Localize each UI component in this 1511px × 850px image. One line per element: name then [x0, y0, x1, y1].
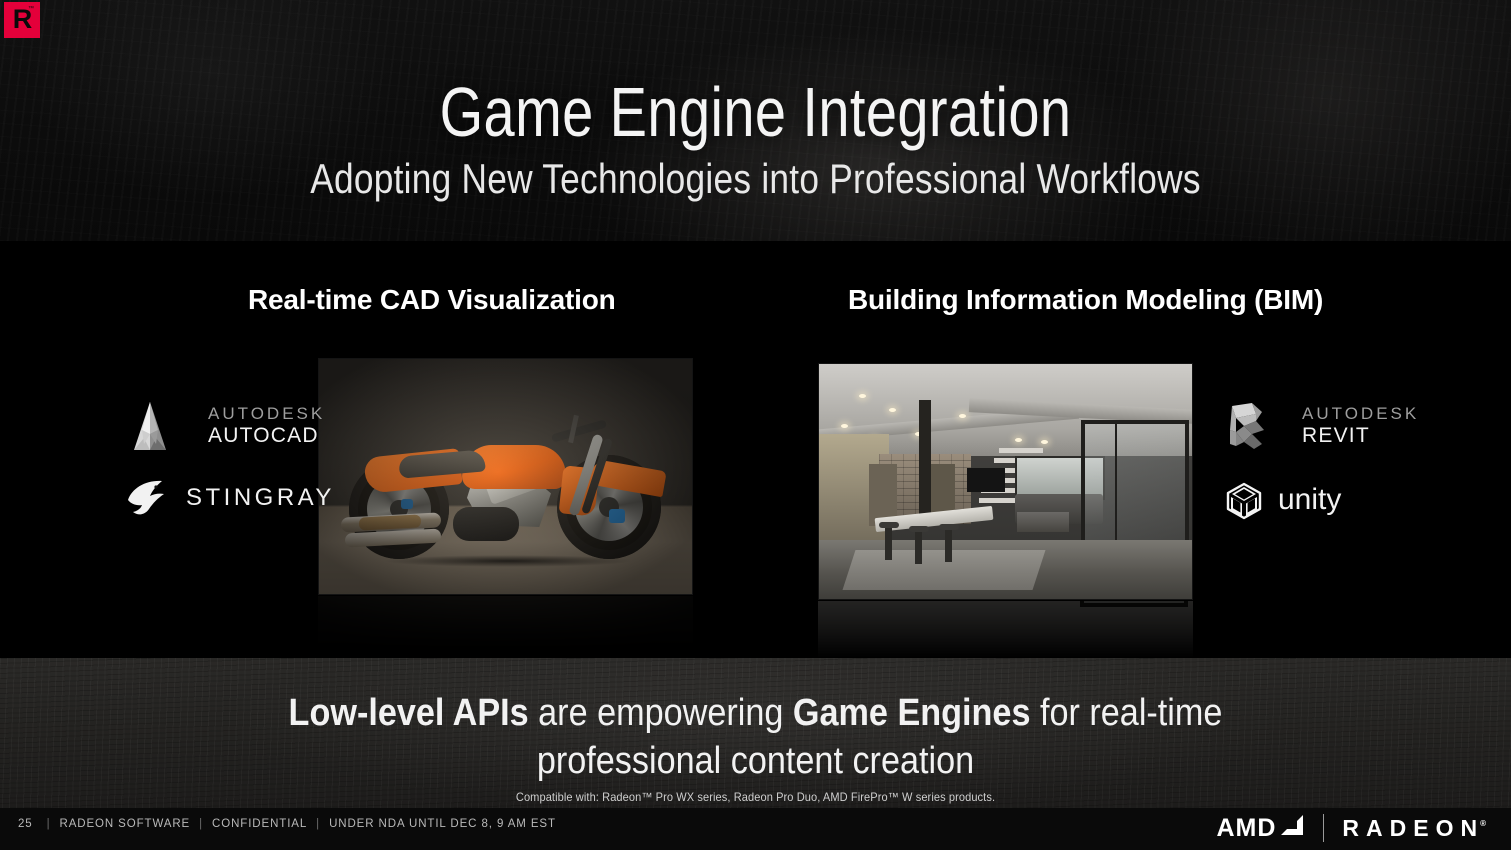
autocad-wordmark: AUTODESK AUTOCAD: [208, 404, 325, 448]
stingray-label: STINGRAY: [186, 484, 335, 512]
cad-render-screenshot: [318, 358, 693, 595]
footer-item-classification: CONFIDENTIAL: [212, 818, 307, 830]
autodesk-label: AUTODESK: [208, 404, 325, 424]
bim-render-reflection: [818, 601, 1193, 663]
statement-emphasis-2: Game Engines: [793, 692, 1031, 734]
radeon-logo: RADEON®: [1342, 815, 1497, 842]
radeon-r-trademark: ™: [28, 6, 34, 12]
footer-separator: |: [47, 818, 51, 830]
brand-stingray: STINGRAY: [122, 478, 302, 518]
autodesk-label: AUTODESK: [1302, 404, 1419, 424]
footer-item-product: RADEON SOFTWARE: [59, 818, 190, 830]
radeon-r-logo: R ™: [4, 2, 40, 38]
bim-render-screenshot: [818, 363, 1193, 600]
cad-render-reflection: [318, 596, 693, 658]
autodesk-r-icon: [1222, 400, 1272, 452]
statement-plain-2: for real-time: [1030, 692, 1222, 734]
footer-meta: 25 | RADEON SOFTWARE | CONFIDENTIAL | UN…: [18, 818, 556, 830]
amd-arrow-icon: [1279, 813, 1305, 844]
unity-cube-icon: [1222, 478, 1266, 522]
loft-interior-render: [819, 364, 1192, 599]
footer-separator: |: [316, 818, 320, 830]
section-heading-bim: Building Information Modeling (BIM): [848, 284, 1323, 316]
unity-label: unity: [1278, 483, 1341, 517]
brand-revit: AUTODESK REVIT: [1222, 400, 1407, 452]
brand-list-bim: AUTODESK REVIT: [1222, 400, 1407, 548]
statement-plain-1: are empowering: [529, 692, 793, 734]
slide-root: R ™ Game Engine Integration Adopting New…: [0, 0, 1511, 850]
radeon-label: RADEON: [1342, 815, 1484, 841]
brand-autocad: AUTODESK AUTOCAD: [122, 400, 302, 452]
autodesk-a-icon: [122, 400, 178, 452]
statement-emphasis-1: Low-level APIs: [289, 692, 529, 734]
corporate-brand-bar: AMD RADEON®: [1216, 808, 1497, 848]
brand-list-cad: AUTODESK AUTOCAD STINGRAY: [122, 400, 302, 544]
statement-line-1: Low-level APIs are empowering Game Engin…: [76, 690, 1436, 738]
amd-logo: AMD: [1216, 813, 1305, 844]
compatibility-note: Compatible with: Radeon™ Pro WX series, …: [60, 790, 1450, 804]
revit-label: REVIT: [1302, 424, 1419, 448]
amd-label: AMD: [1216, 814, 1276, 843]
statement-text: Low-level APIs are empowering Game Engin…: [76, 690, 1436, 785]
stingray-icon: [122, 478, 170, 518]
brand-unity: unity: [1222, 478, 1407, 522]
brand-divider: [1323, 814, 1324, 842]
motorcycle-render-scene: [319, 359, 692, 594]
page-number: 25: [18, 818, 33, 830]
revit-wordmark: AUTODESK REVIT: [1302, 404, 1419, 448]
section-heading-cad: Real-time CAD Visualization: [248, 284, 616, 316]
footer-separator: |: [199, 818, 203, 830]
autocad-label: AUTOCAD: [208, 424, 325, 448]
radeon-registered-mark: ®: [1480, 819, 1493, 828]
footer-item-nda: UNDER NDA UNTIL DEC 8, 9 AM EST: [329, 818, 556, 830]
statement-line-2: professional content creation: [76, 738, 1436, 786]
page-subtitle: Adopting New Technologies into Professio…: [121, 155, 1390, 203]
page-title: Game Engine Integration: [151, 72, 1360, 152]
